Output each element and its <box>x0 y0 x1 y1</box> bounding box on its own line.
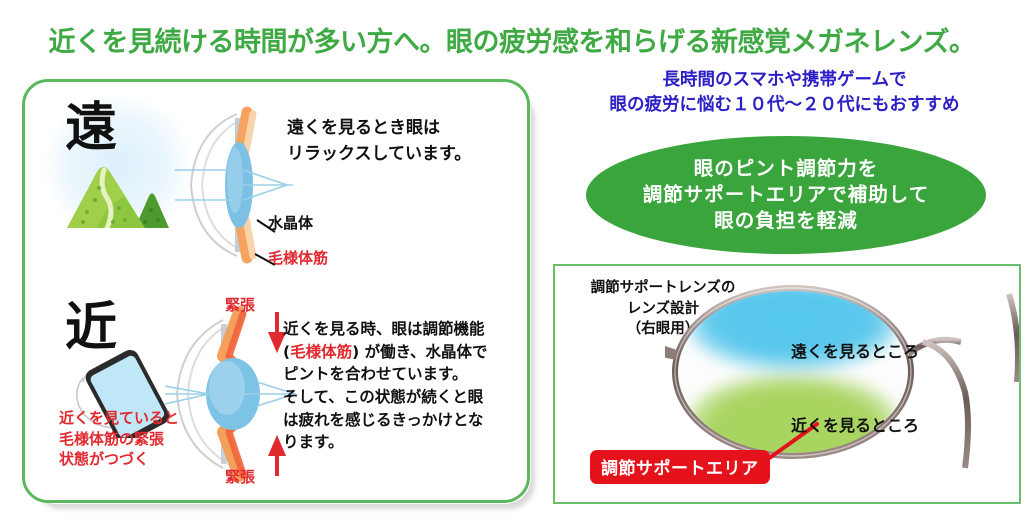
ciliary-muscle-highlight: 毛様体筋 <box>290 343 352 361</box>
ciliary-muscle-label: 毛様体筋 <box>268 247 328 268</box>
near-description: 近くを見る時、眼は調節機能 (毛様体筋) が働き、水晶体で ピントを合わせていま… <box>283 318 488 454</box>
mountain-icon <box>63 156 173 228</box>
support-area-badge: 調節サポートエリア <box>590 450 770 484</box>
far-zone-label: 遠くを見るところ <box>791 338 919 362</box>
benefit-callout-text: 眼のピント調節力を 調節サポートエリアで補助して 眼の負担を軽減 <box>643 156 929 233</box>
page-title: 近くを見続ける時間が多い方へ。眼の疲労感を和らげる新感覚メガネレンズ。 <box>0 20 1024 59</box>
eyeglasses-illustration <box>665 272 1021 478</box>
recommendation-heading: 長時間のスマホや携帯ゲームで 眼の疲労に悩む１０代～２０代にもおすすめ <box>545 68 1024 118</box>
near-red-caption: 近くを見ていると 毛様体筋の緊張 状態がつづく <box>59 408 179 470</box>
eye-explanation-card: 遠 <box>22 79 530 503</box>
lens-design-panel: 調節サポートレンズの レンズ設計 （右眼用） <box>553 264 1021 504</box>
near-description-line-2: (毛様体筋) が働き、水晶体で <box>283 341 488 364</box>
benefit-callout-oval: 眼のピント調節力を 調節サポートエリアで補助して 眼の負担を軽減 <box>586 136 986 254</box>
near-vision-section: 近 近くを見ていると 毛様体筋の緊張 状態がつづく <box>25 290 533 502</box>
far-vision-section: 遠 <box>25 86 533 294</box>
tension-label-top: 緊張 <box>225 294 255 315</box>
tension-label-bottom: 緊張 <box>225 466 255 487</box>
far-description: 遠くを見るとき眼は リラックスしています。 <box>287 116 471 167</box>
far-kanji-label: 遠 <box>65 102 117 154</box>
lens-label: 水晶体 <box>268 212 313 233</box>
near-zone-label: 近くを見るところ <box>791 412 919 436</box>
infographic-root: 近くを見続ける時間が多い方へ。眼の疲労感を和らげる新感覚メガネレンズ。 遠 <box>0 0 1024 525</box>
